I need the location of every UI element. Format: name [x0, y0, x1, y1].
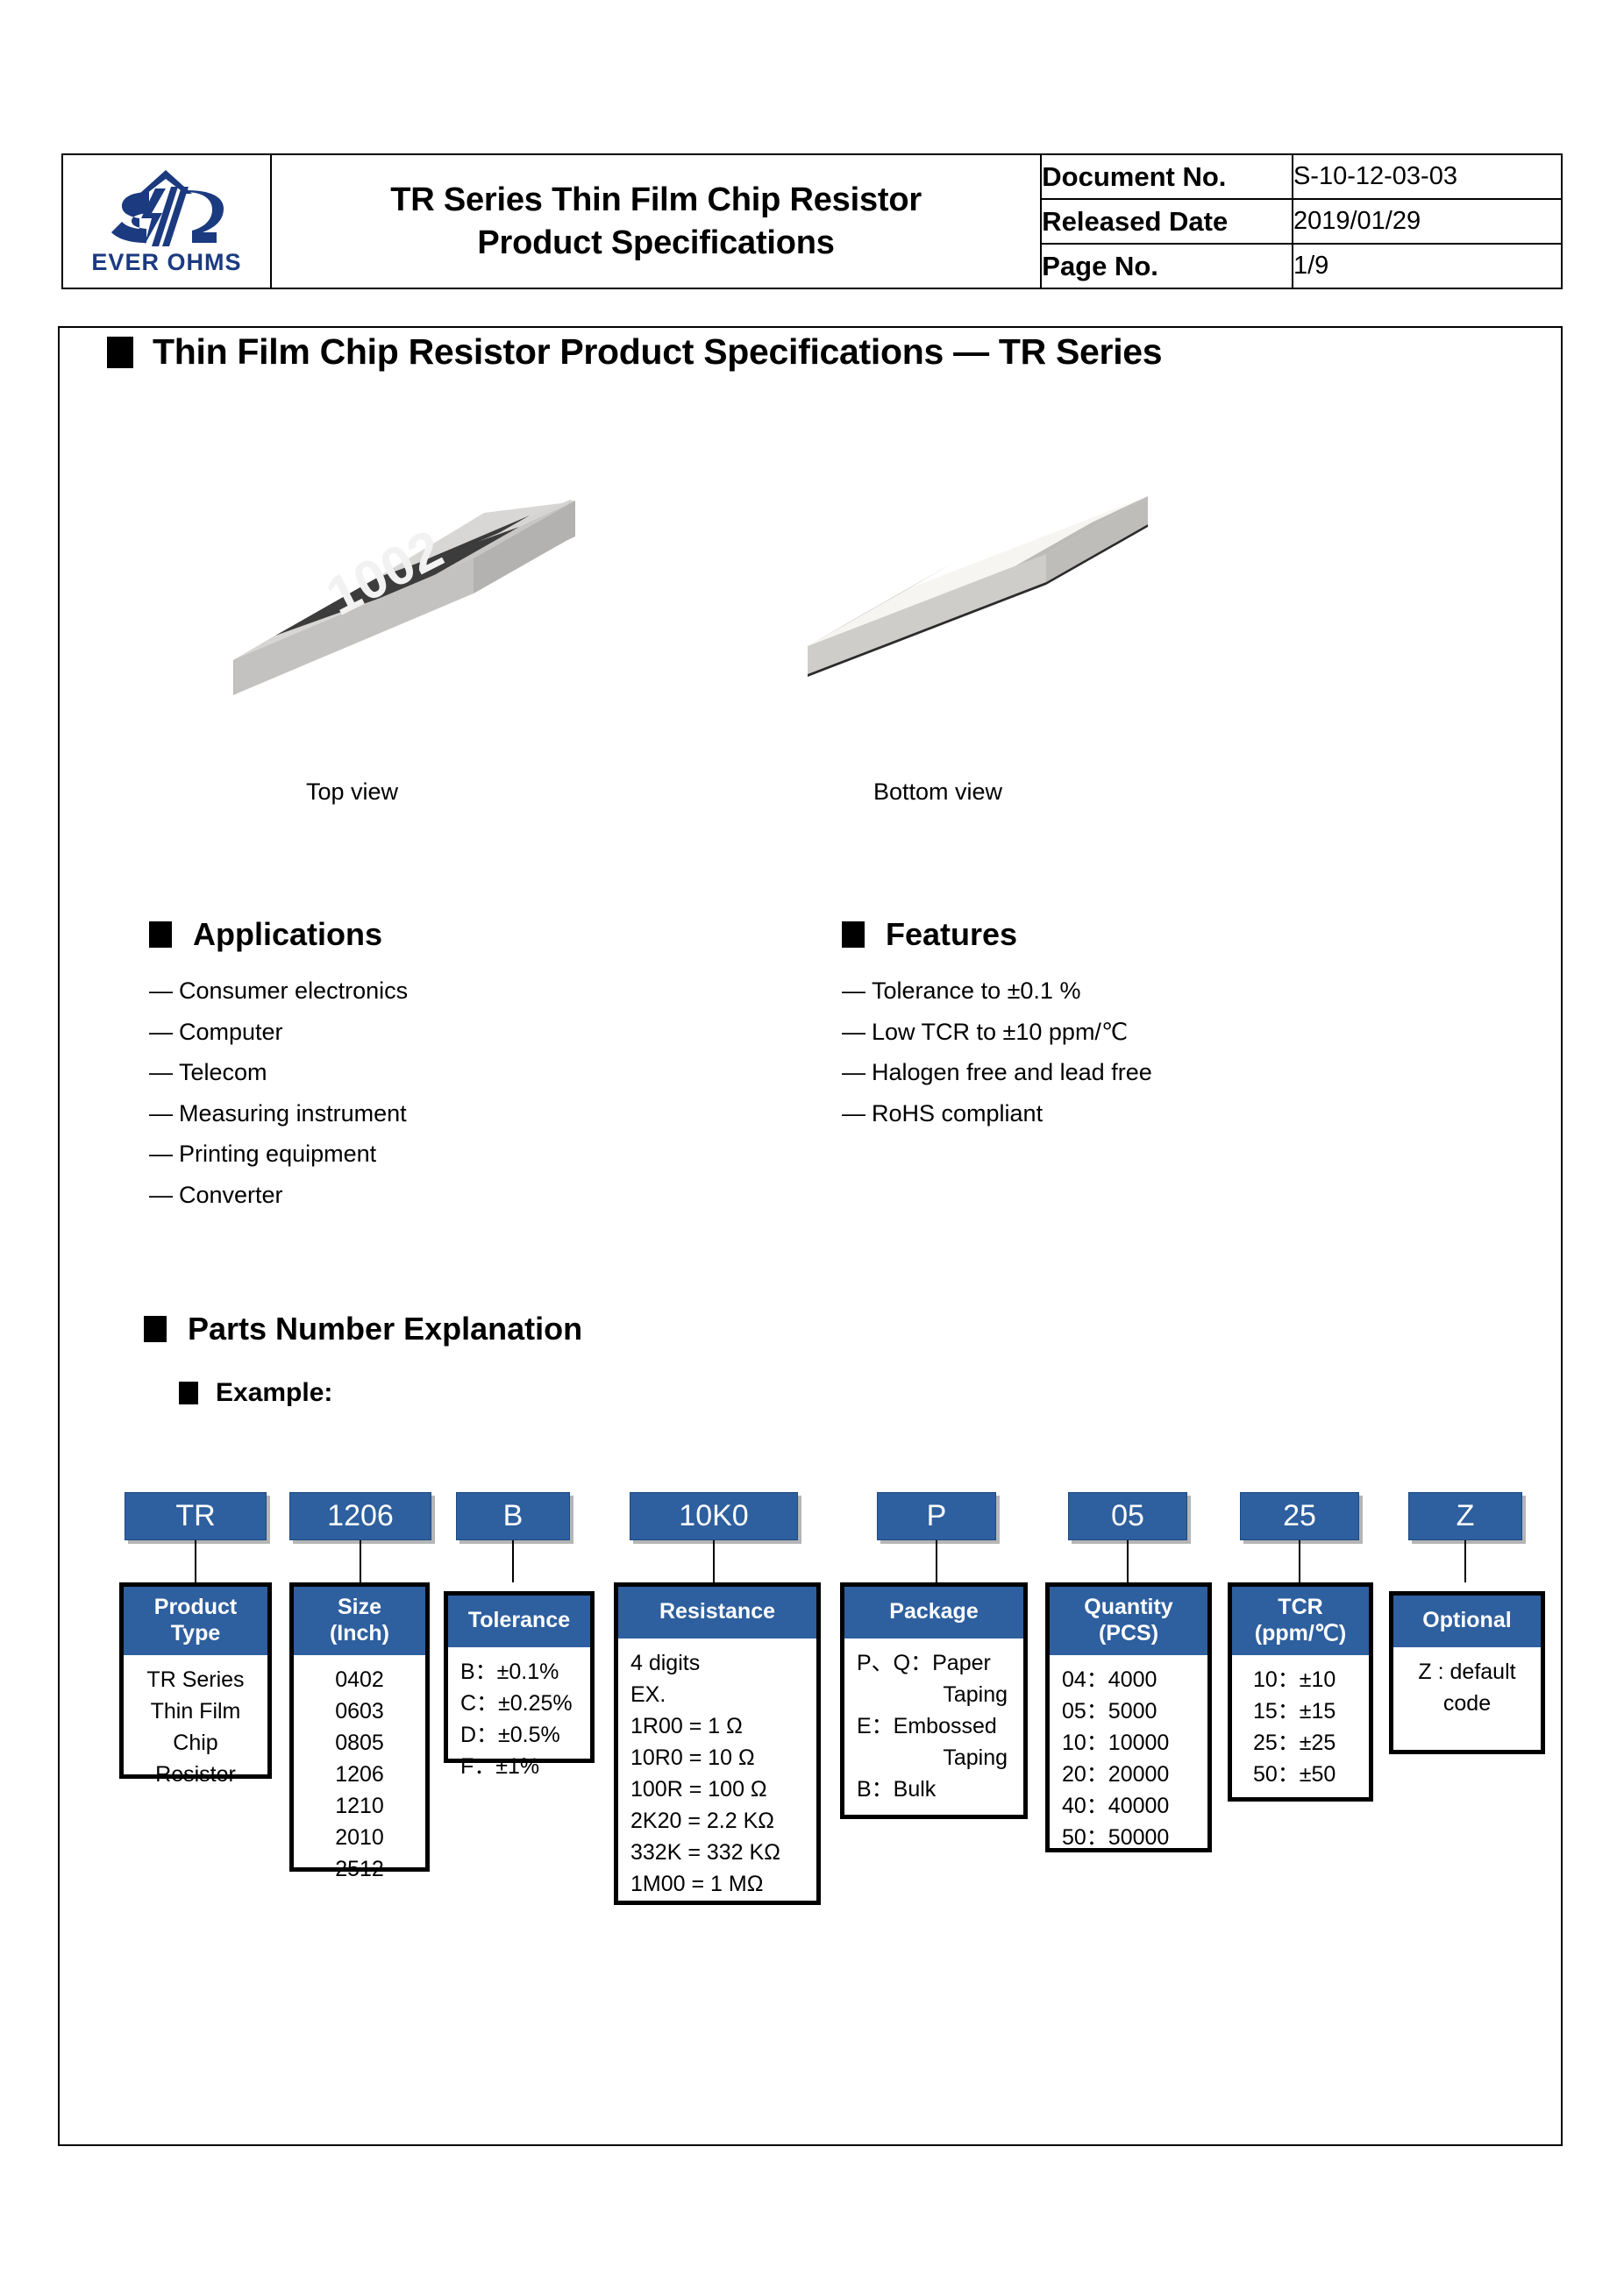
page-title: Thin Film Chip Resistor Product Specific… [107, 331, 1162, 373]
company-logo: EVER OHMS [63, 157, 270, 287]
list-item-label: Halogen free and lead free [872, 1059, 1152, 1085]
category-header: Quantity (PCS) [1050, 1587, 1207, 1655]
code-box-optional[interactable]: Z [1408, 1492, 1522, 1540]
category-line: P、Q：Paper [857, 1647, 1015, 1679]
page-title-text: Thin Film Chip Resistor Product Specific… [153, 331, 1162, 373]
bullet-square-icon [842, 921, 865, 948]
list-item: —Low TCR to ±10 ppm/℃ [842, 1012, 1152, 1053]
category-line: 1206 [303, 1759, 417, 1790]
category-header: Product Type [124, 1587, 267, 1655]
category-body: 04：4000 05：5000 10：10000 20：20000 40：400… [1050, 1655, 1207, 1864]
category-body: 0402 0603 0805 1206 1210 2010 2512 [294, 1655, 425, 1895]
code-box-size[interactable]: 1206 [289, 1492, 431, 1540]
logo-wordmark: EVER OHMS [91, 249, 241, 276]
page-no-label-cell: Page No. [1041, 244, 1293, 288]
list-item-label: Tolerance to ±0.1 % [872, 977, 1080, 1004]
category-line: 2512 [303, 1853, 417, 1885]
features-heading-text: Features [886, 916, 1017, 953]
category-line: B：Bulk [857, 1774, 1015, 1805]
list-item: —Measuring instrument [149, 1093, 408, 1134]
code-box-tolerance[interactable]: B [456, 1492, 570, 1540]
category-line: 10：10000 [1062, 1727, 1199, 1759]
category-line: 1M00 = 1 MΩ [630, 1868, 808, 1900]
list-item: —RoHS compliant [842, 1093, 1152, 1134]
header-title-cell: TR Series Thin Film Chip Resistor Produc… [271, 154, 1041, 288]
category-line: TR Series [132, 1664, 259, 1695]
category-line: 0603 [303, 1695, 417, 1727]
applications-list: —Consumer electronics —Computer —Telecom… [149, 970, 408, 1216]
category-line: 2010 [303, 1822, 417, 1853]
code-box-package[interactable]: P [877, 1492, 996, 1540]
category-box-size: Size (Inch) 0402 0603 0805 1206 1210 201… [289, 1582, 430, 1872]
category-line: 100R = 100 Ω [630, 1774, 808, 1805]
bottom-view-caption: Bottom view [873, 778, 1002, 806]
list-item: —Converter [149, 1175, 408, 1216]
released-date-value: 2019/01/29 [1293, 207, 1421, 235]
applications-heading: Applications [149, 916, 382, 953]
list-item: —Consumer electronics [149, 970, 408, 1012]
chip-bottom-view-image [794, 478, 1162, 741]
category-line: D：±0.5% [460, 1719, 581, 1751]
category-title-line2: (ppm/℃) [1234, 1621, 1367, 1647]
list-item: —Telecom [149, 1052, 408, 1093]
features-heading: Features [842, 916, 1017, 953]
category-line: 2K20 = 2.2 KΩ [630, 1805, 808, 1837]
category-box-product-type: Product Type TR Series Thin Film Chip Re… [119, 1582, 272, 1779]
document-no-value: S-10-12-03-03 [1293, 162, 1457, 190]
released-date-label-cell: Released Date [1041, 199, 1293, 244]
category-line: 05：5000 [1062, 1695, 1199, 1727]
connector-line [713, 1540, 715, 1582]
example-heading: Example: [179, 1378, 332, 1408]
page-no-value-cell: 1/9 [1293, 244, 1562, 288]
category-line: 50：±50 [1253, 1759, 1360, 1790]
connector-line [195, 1540, 196, 1582]
category-line: 15：±15 [1253, 1695, 1360, 1727]
category-line: C：±0.25% [460, 1688, 581, 1719]
connector-line [936, 1540, 937, 1582]
category-header: Tolerance [448, 1596, 590, 1647]
top-view-caption: Top view [306, 778, 398, 806]
bullet-square-icon [107, 337, 133, 368]
list-item: —Computer [149, 1012, 408, 1053]
list-item-label: Low TCR to ±10 ppm/℃ [872, 1019, 1128, 1045]
category-title-line1: TCR [1234, 1595, 1367, 1621]
category-box-quantity: Quantity (PCS) 04：4000 05：5000 10：10000 … [1045, 1582, 1212, 1852]
category-header: Size (Inch) [294, 1587, 425, 1655]
category-line: Taping [857, 1742, 1015, 1774]
category-line: Resistor [132, 1759, 259, 1790]
category-line: 4 digits [630, 1647, 808, 1679]
list-item: —Printing equipment [149, 1134, 408, 1175]
category-title-line1: Product [125, 1595, 266, 1621]
category-line: 25：±25 [1253, 1727, 1360, 1759]
category-title-line1: Quantity [1051, 1595, 1206, 1621]
bullet-square-icon [144, 1316, 167, 1342]
list-item-label: Converter [179, 1182, 283, 1208]
parts-number-heading-text: Parts Number Explanation [188, 1311, 582, 1347]
category-line: 1R00 = 1 Ω [630, 1710, 808, 1742]
category-header: TCR (ppm/℃) [1232, 1587, 1369, 1655]
code-box-tcr[interactable]: 25 [1240, 1492, 1359, 1540]
category-line: 10：±10 [1253, 1664, 1360, 1695]
category-line: F：±1% [460, 1751, 581, 1782]
category-title-line1: Package [846, 1599, 1022, 1625]
code-box-resistance[interactable]: 10K0 [630, 1492, 798, 1540]
category-line: EX. [630, 1679, 808, 1710]
released-date-value-cell: 2019/01/29 [1293, 199, 1562, 244]
category-header: Optional [1393, 1596, 1541, 1647]
document-no-label-cell: Document No. [1041, 154, 1293, 199]
category-line: Taping [857, 1679, 1015, 1710]
category-box-tolerance: Tolerance B：±0.1% C：±0.25% D：±0.5% F：±1% [444, 1591, 595, 1763]
category-line: Z : default [1402, 1656, 1532, 1688]
category-line: B：±0.1% [460, 1656, 581, 1688]
category-box-resistance: Resistance 4 digits EX. 1R00 = 1 Ω 10R0 … [614, 1582, 821, 1905]
category-line: 0805 [303, 1727, 417, 1759]
parts-number-heading: Parts Number Explanation [144, 1311, 582, 1347]
page-no-label: Page No. [1042, 251, 1158, 281]
category-box-tcr: TCR (ppm/℃) 10：±10 15：±15 25：±25 50：±50 [1228, 1582, 1373, 1802]
document-no-label: Document No. [1042, 161, 1226, 192]
category-body: P、Q：Paper Taping E：Embossed Taping B：Bul… [844, 1638, 1023, 1816]
connector-line [1299, 1540, 1300, 1582]
code-box-product-type[interactable]: TR [125, 1492, 267, 1540]
category-title-line1: Tolerance [450, 1608, 588, 1634]
list-item-label: RoHS compliant [872, 1100, 1043, 1127]
category-box-optional: Optional Z : default code [1389, 1591, 1545, 1754]
category-body: 4 digits EX. 1R00 = 1 Ω 10R0 = 10 Ω 100R… [618, 1638, 816, 1910]
document-no-value-cell: S-10-12-03-03 [1293, 154, 1562, 199]
features-list: —Tolerance to ±0.1 % —Low TCR to ±10 ppm… [842, 970, 1152, 1134]
category-line: 40：40000 [1062, 1790, 1199, 1822]
header-title-line1: TR Series Thin Film Chip Resistor [272, 179, 1040, 222]
ever-ohms-logo-icon [101, 167, 232, 248]
category-title-line2: (Inch) [296, 1621, 424, 1647]
category-title-line2: (PCS) [1051, 1621, 1206, 1647]
bullet-square-icon [149, 921, 172, 948]
list-item-label: Measuring instrument [179, 1100, 407, 1127]
code-box-quantity[interactable]: 05 [1068, 1492, 1187, 1540]
category-header: Package [844, 1587, 1023, 1638]
category-title-line1: Size [296, 1595, 424, 1621]
category-line: Chip [132, 1727, 259, 1759]
category-title-line2: Type [125, 1621, 266, 1647]
category-line: Thin Film [132, 1695, 259, 1727]
chip-top-view-image: 1002 [221, 473, 589, 763]
category-header: Resistance [618, 1587, 816, 1638]
category-body: Z : default code [1393, 1647, 1541, 1730]
connector-line [1464, 1540, 1466, 1582]
released-date-label: Released Date [1042, 206, 1228, 237]
category-line: 10R0 = 10 Ω [630, 1742, 808, 1774]
category-line: 1210 [303, 1790, 417, 1822]
category-line: 04：4000 [1062, 1664, 1199, 1695]
connector-line [1127, 1540, 1129, 1582]
list-item: —Tolerance to ±0.1 % [842, 970, 1152, 1012]
category-line: 0402 [303, 1664, 417, 1695]
category-title-line1: Resistance [620, 1599, 815, 1625]
document-header-table: EVER OHMS TR Series Thin Film Chip Resis… [61, 153, 1563, 289]
category-box-package: Package P、Q：Paper Taping E：Embossed Tapi… [840, 1582, 1028, 1819]
page-no-value: 1/9 [1293, 252, 1328, 280]
category-line: 332K = 332 KΩ [630, 1837, 808, 1868]
category-body: TR Series Thin Film Chip Resistor [124, 1655, 267, 1801]
list-item: —Halogen free and lead free [842, 1052, 1152, 1093]
category-body: B：±0.1% C：±0.25% D：±0.5% F：±1% [448, 1647, 590, 1793]
header-title-line2: Product Specifications [272, 222, 1040, 265]
list-item-label: Consumer electronics [179, 977, 408, 1004]
category-body: 10：±10 15：±15 25：±25 50：±50 [1232, 1655, 1369, 1801]
list-item-label: Printing equipment [179, 1141, 376, 1167]
category-line: 50：50000 [1062, 1822, 1199, 1853]
category-line: code [1402, 1688, 1532, 1719]
bullet-square-icon [179, 1382, 198, 1404]
applications-heading-text: Applications [193, 916, 382, 953]
example-heading-text: Example: [216, 1378, 332, 1408]
logo-cell: EVER OHMS [62, 154, 271, 288]
category-title-line1: Optional [1395, 1608, 1539, 1634]
category-line: E：Embossed [857, 1710, 1015, 1742]
category-line: 20：20000 [1062, 1759, 1199, 1790]
connector-line [512, 1540, 514, 1582]
connector-line [360, 1540, 361, 1582]
list-item-label: Telecom [179, 1059, 267, 1085]
list-item-label: Computer [179, 1019, 283, 1045]
